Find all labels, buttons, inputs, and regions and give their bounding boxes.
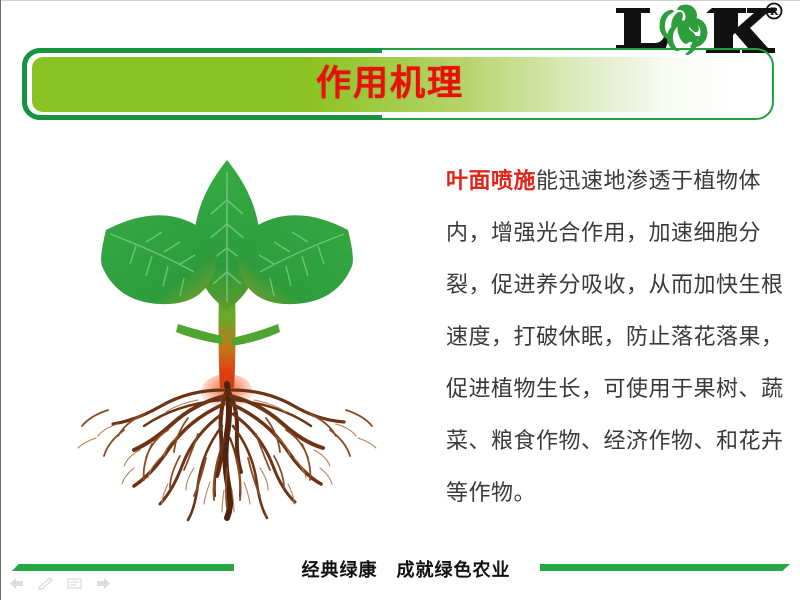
next-slide-icon[interactable]: [95, 576, 112, 591]
body-paragraph: 叶面喷施能迅速地渗透于植物体内，增强光合作用，加速细胞分裂，促进养分吸收，从而加…: [446, 156, 786, 520]
page-title: 作用机理: [316, 62, 464, 107]
slideshow-controls[interactable]: [8, 576, 112, 591]
svg-text:R: R: [770, 7, 779, 18]
menu-icon[interactable]: [66, 576, 83, 591]
footer-rule-left: [12, 564, 234, 571]
window-left-edge: [0, 0, 1, 600]
body-highlight: 叶面喷施: [446, 169, 536, 194]
body-rest: 能迅速地渗透于植物体内，增强光合作用，加速细胞分裂，促进养分吸收，从而加快生根速…: [446, 169, 784, 506]
prev-slide-icon[interactable]: [8, 576, 25, 591]
seedling-with-roots-illustration: [48, 138, 408, 528]
presentation-slide: R 作用机理: [0, 0, 800, 600]
footer-rule-right: [540, 564, 790, 571]
pen-icon[interactable]: [37, 576, 54, 591]
window-top-edge: [0, 0, 800, 1]
footer-slogan: 经典绿康 成就绿色农业: [286, 556, 526, 582]
